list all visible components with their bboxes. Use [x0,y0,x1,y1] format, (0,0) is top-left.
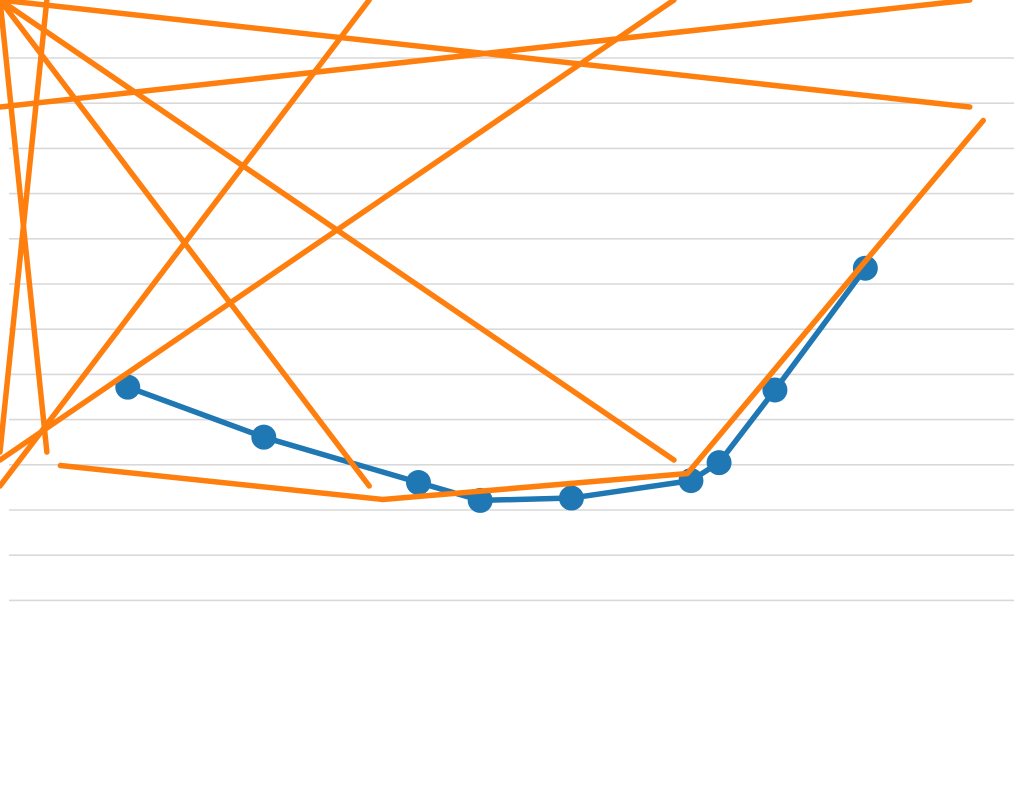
data-point-circle [406,470,431,495]
data-point-circle [251,425,276,450]
line-chart [0,0,1023,810]
data-point-circle [707,450,732,475]
chart-figure [0,0,1023,810]
data-point-circle [559,486,584,511]
figure-background [0,0,1023,810]
